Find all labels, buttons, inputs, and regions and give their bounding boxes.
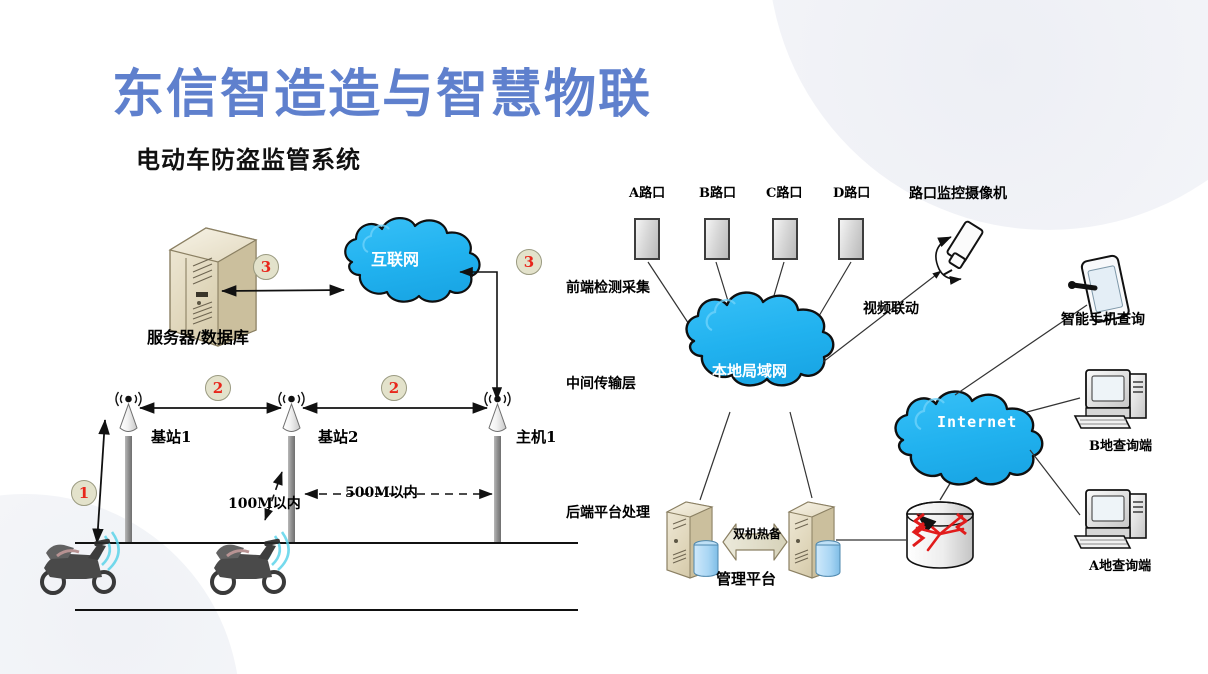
desktop-pc-a-icon — [1075, 490, 1146, 548]
base-station-2-icon — [279, 392, 304, 544]
label-server-database: 服务器/数据库 — [147, 330, 249, 346]
label-internet-cloud-left: 互联网 — [371, 252, 419, 268]
badge-3b: 3 — [516, 249, 542, 275]
label-base-station-1: 基站1 — [151, 430, 191, 445]
badge-2b: 2 — [381, 375, 407, 401]
label-port-c: C路口 — [766, 187, 802, 200]
host-1-icon — [485, 392, 510, 544]
links-lan-to-servers — [700, 412, 812, 500]
database-cylinder — [694, 541, 718, 577]
base-station-1-icon — [116, 392, 141, 544]
e-bike-2 — [212, 532, 289, 593]
port-box-c[interactable] — [772, 218, 798, 260]
label-intersection-camera: 路口监控摄像机 — [909, 187, 1007, 201]
port-box-a[interactable] — [634, 218, 660, 260]
e-bike-1 — [42, 532, 119, 593]
label-management-platform: 管理平台 — [716, 572, 776, 587]
badge-1: 1 — [71, 480, 97, 506]
label-tier-transport: 中间传输层 — [566, 377, 636, 391]
desktop-pc-b-icon — [1075, 370, 1146, 428]
database-cylinder — [816, 541, 840, 577]
label-tier-frontend: 前端检测采集 — [566, 281, 650, 295]
intersection-camera-icon — [936, 221, 984, 280]
label-lan-cloud: 本地局域网 — [712, 364, 787, 379]
label-tier-backend: 后端平台处理 — [566, 506, 650, 520]
label-internet-cloud-right: Internet — [937, 415, 1017, 430]
label-port-a: A路口 — [629, 187, 665, 200]
label-video-linkage: 视频联动 — [863, 302, 919, 316]
label-distance-100m: 100M以内 — [228, 497, 301, 511]
label-distance-500m: 500M以内 — [345, 486, 418, 500]
label-host-1: 主机1 — [516, 430, 556, 445]
badge-3a: 3 — [253, 254, 279, 280]
management-server-a-icon — [667, 502, 718, 578]
management-server-b-icon — [789, 502, 840, 578]
label-base-station-2: 基站2 — [318, 430, 358, 445]
port-box-d[interactable] — [838, 218, 864, 260]
label-client-b: B地查询端 — [1089, 440, 1152, 453]
label-port-b: B路口 — [699, 187, 736, 200]
label-port-d: D路口 — [833, 187, 870, 200]
slide-canvas: 东信智造造与智慧物联 电动车防盗监管系统 — [0, 0, 1208, 674]
label-client-smartphone: 智能手机查询 — [1061, 313, 1145, 327]
badge-2a: 2 — [205, 375, 231, 401]
label-client-a: A地查询端 — [1089, 560, 1151, 573]
internet-cloud-right — [896, 392, 1043, 485]
port-box-b[interactable] — [704, 218, 730, 260]
link-server-internet — [222, 290, 344, 291]
link-bike-bs1 — [97, 420, 105, 543]
router-icon — [907, 502, 973, 568]
label-ha-dual-hot-standby: 双机热备 — [733, 528, 781, 540]
